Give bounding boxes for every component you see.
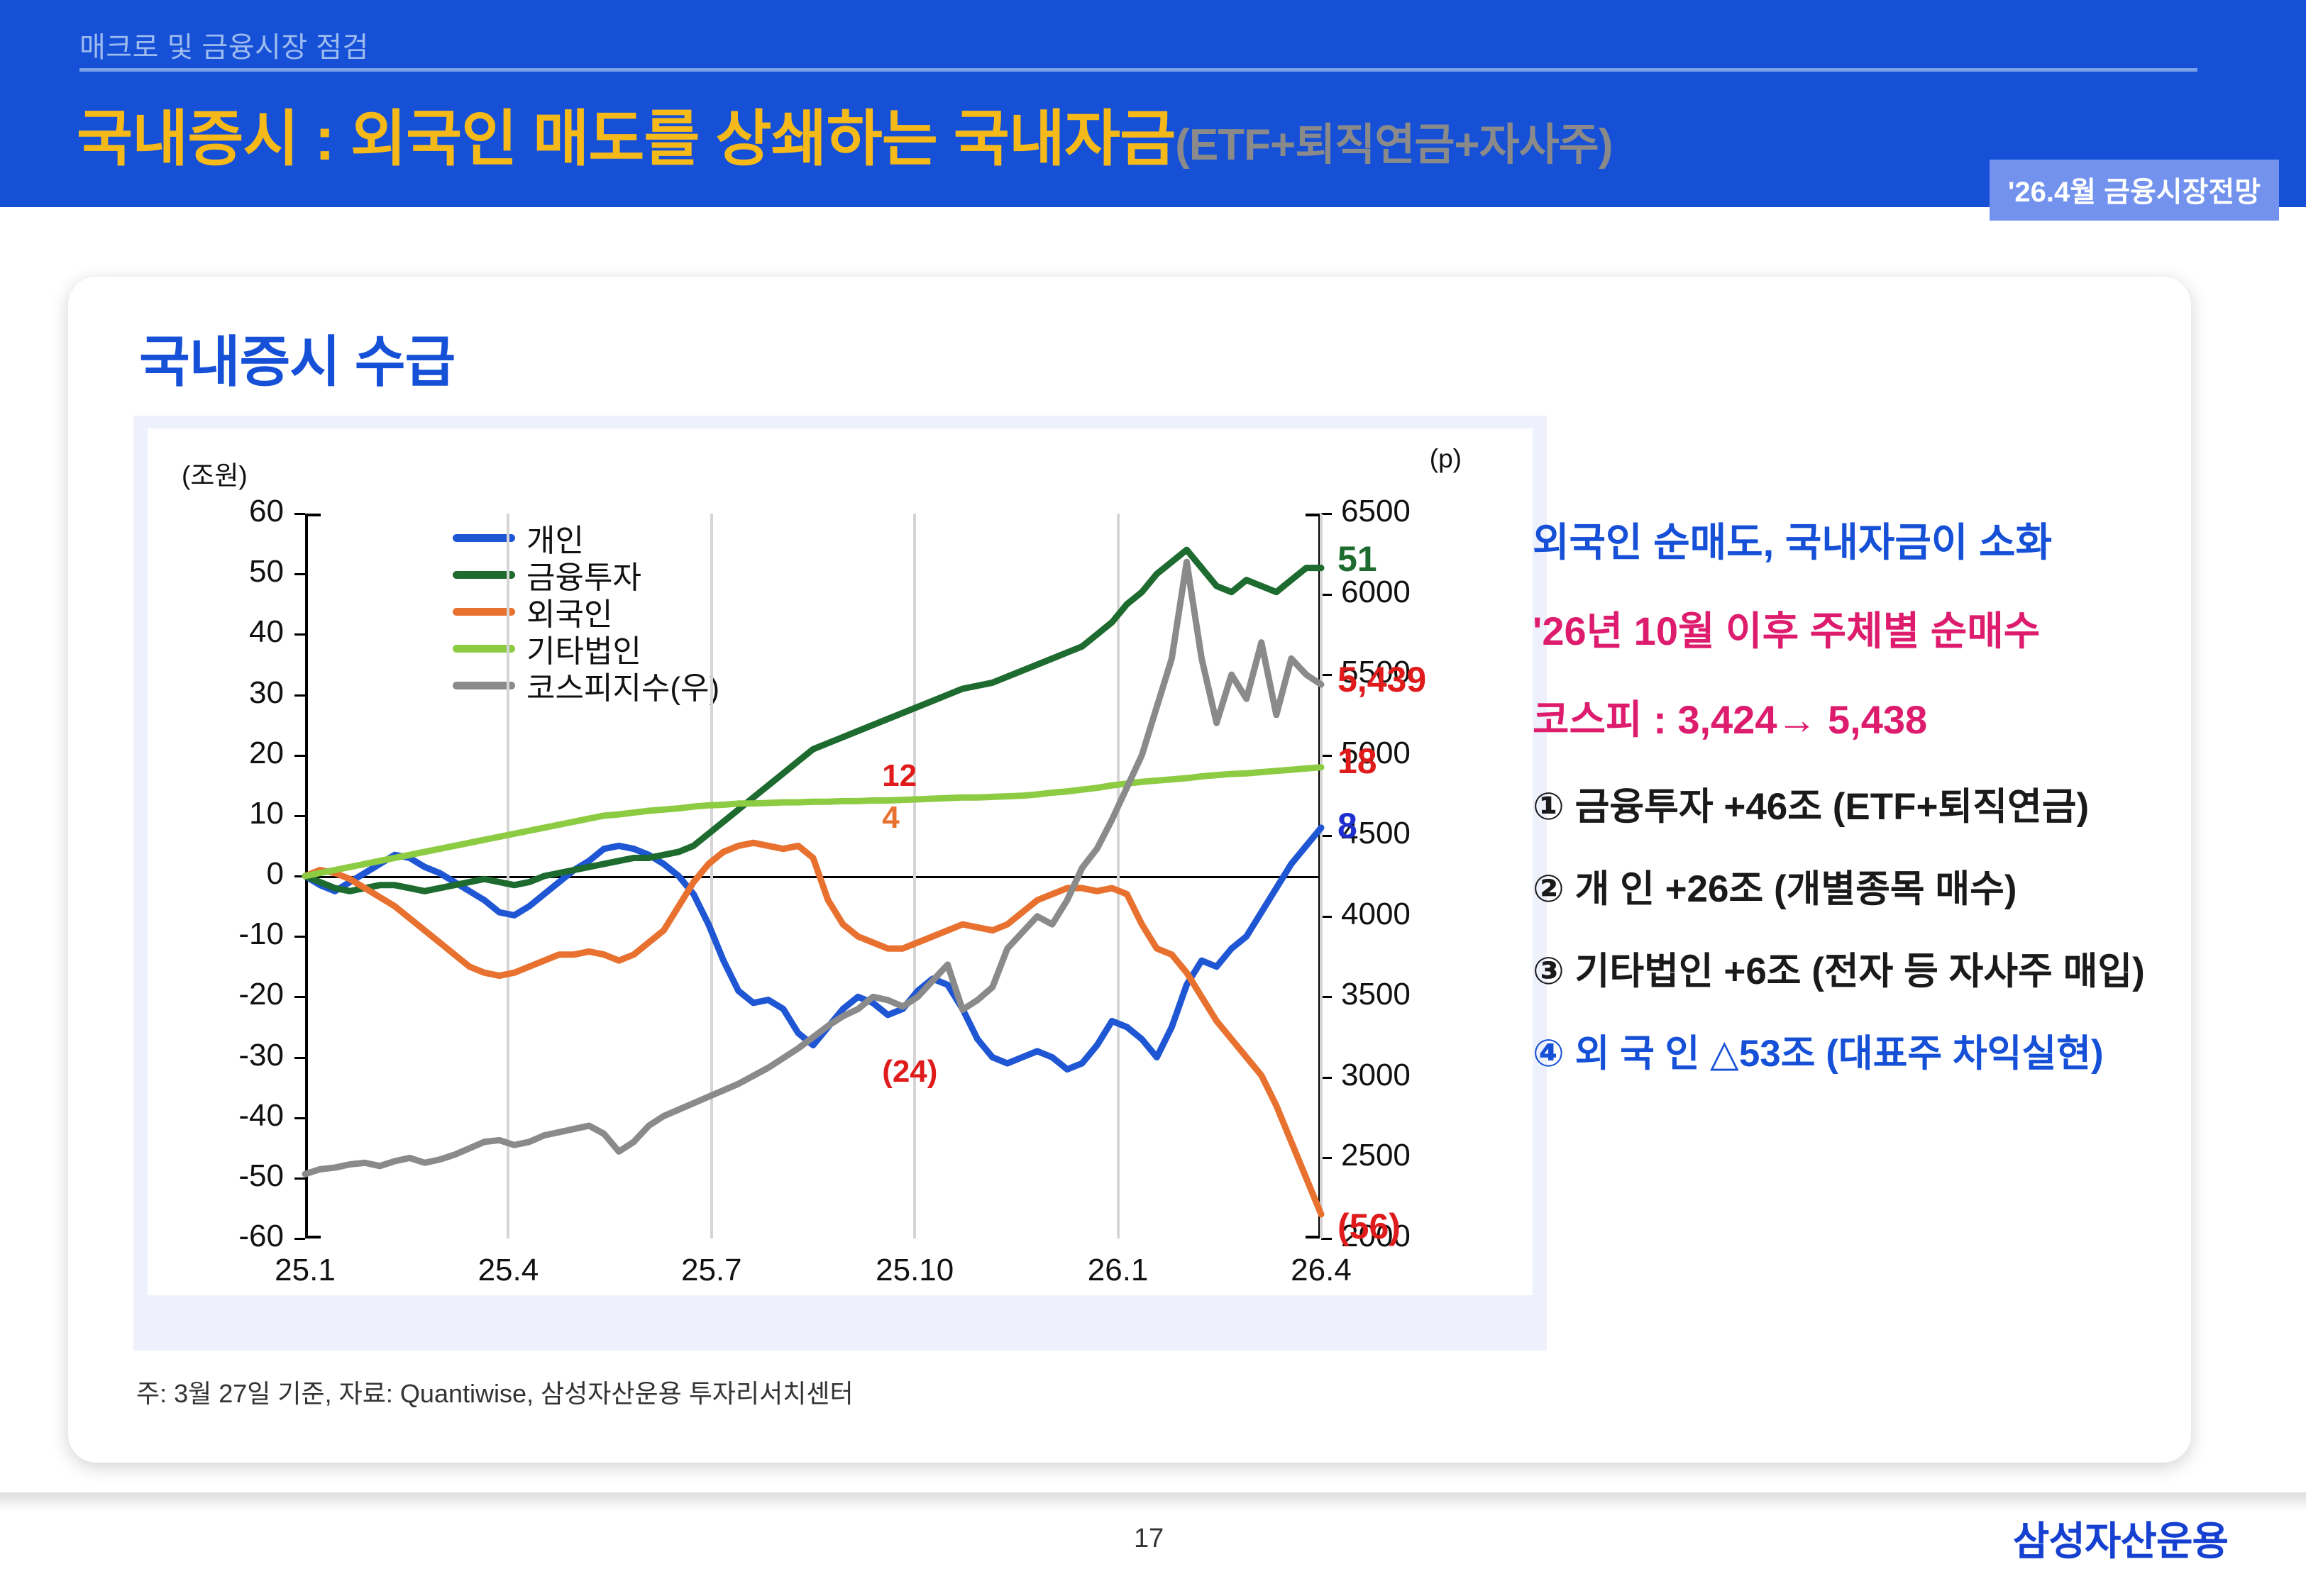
chart-panel: (조원) (p) 개인 금융투자 외국인 기타법인: [133, 416, 1547, 1351]
y-axis-unit-left: (조원): [182, 454, 248, 492]
y-tick-right: [1321, 835, 1332, 837]
y-axis-tick-label: 0: [163, 856, 284, 892]
y-tick-left: [294, 755, 305, 757]
y-tick-right: [1321, 1157, 1332, 1159]
y-axis-tick-label-right: 6000: [1341, 575, 1504, 610]
x-axis-tick-label: 26.1: [1040, 1253, 1196, 1288]
chart-series-lines: [305, 514, 1321, 1238]
commentary-line-5: ③ 기타법인 +6조 (전자 등 자사주 매입): [1533, 941, 2263, 995]
y-axis-tick-label: -10: [163, 916, 284, 952]
chart-axes: 6050403020100-10-20-30-40-50-60 65006000…: [305, 514, 1321, 1238]
y-tick-left: [294, 694, 305, 697]
y-axis-tick-label: 30: [163, 675, 284, 711]
x-axis-tick-label: 26.4: [1243, 1253, 1399, 1288]
y-axis-tick-label: -50: [163, 1158, 284, 1194]
slide-title-sub: (ETF+퇴직연금+자사주): [1175, 109, 1612, 172]
y-axis-tick-label: -20: [163, 977, 284, 1012]
series-end-label: 8: [1337, 805, 1357, 846]
chart-annotation: 12: [882, 758, 917, 794]
x-axis-tick-label: 25.7: [634, 1253, 790, 1288]
y-axis-tick-label: -40: [163, 1098, 284, 1134]
commentary-line-6: ④ 외 국 인 △53조 (대표주 차익실현): [1533, 1024, 2263, 1077]
date-badge: '26.4월 금융시장전망: [1990, 160, 2279, 221]
y-axis-tick-label-right: 6500: [1341, 494, 1504, 529]
company-logo: 삼성자산운용: [2013, 1509, 2228, 1567]
x-axis-tick-label: 25.4: [430, 1253, 586, 1288]
y-axis-tick-label: -30: [163, 1038, 284, 1073]
chart-annotation: (24): [882, 1054, 937, 1090]
y-axis-tick-label: 20: [163, 736, 284, 771]
series-line-4: [305, 562, 1321, 1174]
y-tick-right: [1321, 674, 1332, 676]
y-axis-tick-label: 10: [163, 796, 284, 831]
commentary-line-4: ② 개 인 +26조 (개별종목 매수): [1533, 859, 2263, 913]
commentary-line-0: 외국인 순매도, 국내자금이 소화: [1533, 511, 2263, 568]
y-tick-left: [294, 1177, 305, 1180]
slide-title: 국내증시 : 외국인 매도를 상쇄하는 국내자금 (ETF+퇴직연금+자사주): [77, 89, 1612, 177]
series-end-label: (56): [1337, 1206, 1401, 1247]
y-tick-right: [1321, 1077, 1332, 1079]
slide-title-main: 국내증시 : 외국인 매도를 상쇄하는 국내자금: [77, 89, 1175, 177]
y-axis-tick-label: 50: [163, 554, 284, 589]
chart-annotation: 4: [882, 800, 899, 836]
y-tick-left: [294, 633, 305, 636]
y-tick-left: [294, 573, 305, 575]
series-line-1: [305, 550, 1321, 891]
y-tick-right: [1321, 513, 1332, 515]
y-tick-right: [1321, 755, 1332, 757]
y-tick-left: [294, 936, 305, 938]
series-end-label: 51: [1337, 538, 1377, 580]
y-tick-left: [294, 513, 305, 515]
y-axis-tick-label-right: 3000: [1341, 1058, 1504, 1093]
y-tick-right: [1321, 916, 1332, 918]
commentary-line-1: '26년 10월 이후 주체별 순매수: [1533, 599, 2263, 657]
commentary-line-2: 코스피 : 3,424→ 5,438: [1533, 688, 2263, 746]
y-axis-tick-label: -60: [163, 1219, 284, 1254]
y-axis-tick-label-right: 4500: [1341, 816, 1504, 851]
y-tick-left: [294, 1117, 305, 1119]
y-tick-left: [294, 1238, 305, 1240]
y-tick-left: [294, 996, 305, 998]
y-tick-right: [1321, 1238, 1332, 1240]
y-axis-unit-right: (p): [1430, 444, 1462, 474]
y-axis-tick-label-right: 3500: [1341, 977, 1504, 1012]
card-title: 국내증시 수급: [139, 318, 455, 397]
page-number: 17: [1134, 1524, 1164, 1554]
y-axis-tick-label: 40: [163, 614, 284, 650]
header-divider: [79, 68, 2197, 72]
slide-header: 매크로 및 금융시장 점검 국내증시 : 외국인 매도를 상쇄하는 국내자금 (…: [0, 0, 2306, 207]
commentary-panel: 외국인 순매도, 국내자금이 소화 '26년 10월 이후 주체별 순매수 코스…: [1533, 511, 2263, 1106]
y-axis-tick-label-right: 4000: [1341, 897, 1504, 932]
x-axis-tick-label: 25.10: [837, 1253, 993, 1288]
y-axis-tick-label-right: 2500: [1341, 1138, 1504, 1173]
x-axis-tick-label: 25.1: [227, 1253, 383, 1288]
y-tick-right: [1321, 594, 1332, 596]
y-axis-tick-label: 60: [163, 494, 284, 529]
header-eyebrow: 매크로 및 금융시장 점검: [79, 24, 369, 65]
y-tick-left: [294, 815, 305, 817]
commentary-line-3: ① 금융투자 +46조 (ETF+퇴직연금): [1533, 777, 2263, 831]
series-end-label: 18: [1337, 741, 1377, 782]
series-end-label: 5,439: [1337, 659, 1426, 700]
footer-divider: [0, 1492, 2306, 1511]
y-tick-right: [1321, 996, 1332, 998]
y-tick-left: [294, 1057, 305, 1059]
plot-background: (조원) (p) 개인 금융투자 외국인 기타법인: [148, 428, 1533, 1295]
chart-footnote: 주: 3월 27일 기준, 자료: Quantiwise, 삼성자산운용 투자리…: [136, 1373, 854, 1410]
